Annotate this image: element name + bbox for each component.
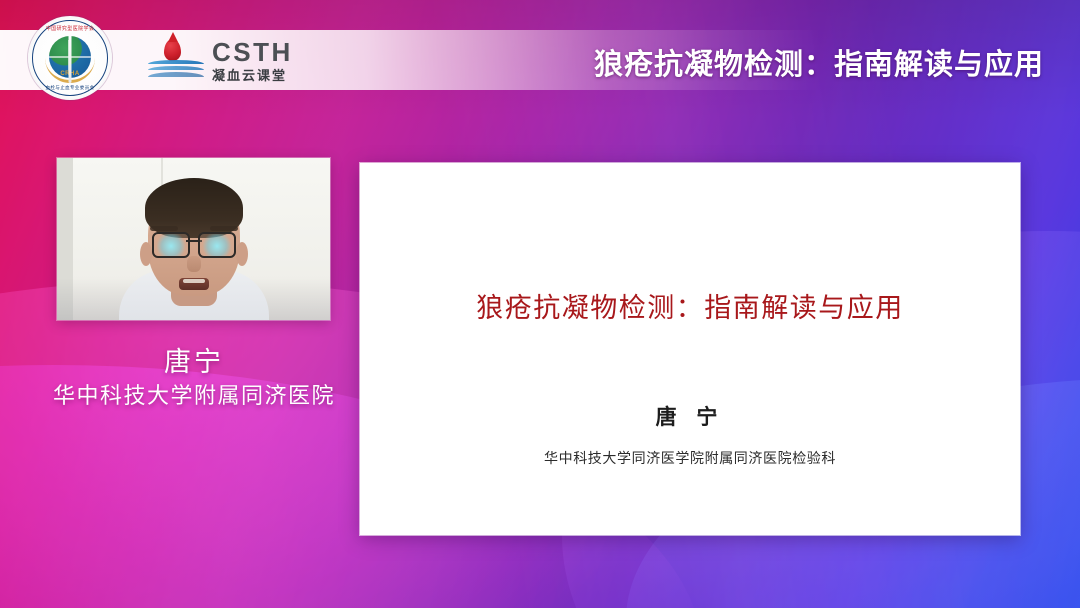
csth-logo: CSTH 凝血云课堂 bbox=[148, 38, 293, 82]
slide-title: 狼疮抗凝物检测：指南解读与应用 bbox=[360, 286, 1020, 325]
glasses-lens-right bbox=[198, 232, 236, 258]
csth-wordmark: CSTH 凝血云课堂 bbox=[212, 39, 293, 82]
crha-top-text: 中国研究型医院学会 bbox=[28, 25, 112, 32]
speaker-eyebrow-left bbox=[150, 226, 178, 231]
speaker-name-overlay: 唐宁 bbox=[0, 340, 388, 379]
slide-speaker-name: 唐 宁 bbox=[360, 401, 1020, 431]
crha-emblem-icon: 中国研究型医院学会 CRHA 血栓与止血专业委员会 bbox=[28, 16, 112, 100]
slide-surface[interactable]: 狼疮抗凝物检测：指南解读与应用 唐 宁 华中科技大学同济医学院附属同济医院检验科 bbox=[360, 163, 1020, 535]
speaker-org-overlay: 华中科技大学附属同济医院 bbox=[0, 378, 388, 410]
speaker-eyebrow-right bbox=[210, 226, 238, 231]
csth-mark-icon bbox=[148, 38, 204, 82]
crha-bottom-text: 血栓与止血专业委员会 bbox=[28, 85, 112, 91]
header-bar: 中国研究型医院学会 CRHA 血栓与止血专业委员会 CSTH 凝血云课堂 狼疮抗… bbox=[0, 0, 1080, 118]
speaker-webcam-feed[interactable] bbox=[57, 158, 330, 320]
page-title: 狼疮抗凝物检测：指南解读与应用 bbox=[594, 41, 1044, 83]
speaker-teeth bbox=[183, 279, 205, 283]
presentation-screen: 中国研究型医院学会 CRHA 血栓与止血专业委员会 CSTH 凝血云课堂 狼疮抗… bbox=[0, 0, 1080, 608]
speaker-ear-right bbox=[236, 242, 248, 266]
speaker-ear-left bbox=[140, 242, 152, 266]
csth-chinese-name: 凝血云课堂 bbox=[212, 69, 293, 82]
slide-affiliation: 华中科技大学同济医学院附属同济医院检验科 bbox=[360, 448, 1020, 468]
csth-english-name: CSTH bbox=[212, 39, 293, 65]
speaker-nose bbox=[187, 256, 201, 272]
asclepius-icon bbox=[69, 34, 72, 83]
glasses-lens-left bbox=[152, 232, 190, 258]
open-book-icon bbox=[148, 60, 204, 82]
blood-drop-icon bbox=[164, 39, 181, 61]
glasses-icon bbox=[152, 232, 236, 254]
